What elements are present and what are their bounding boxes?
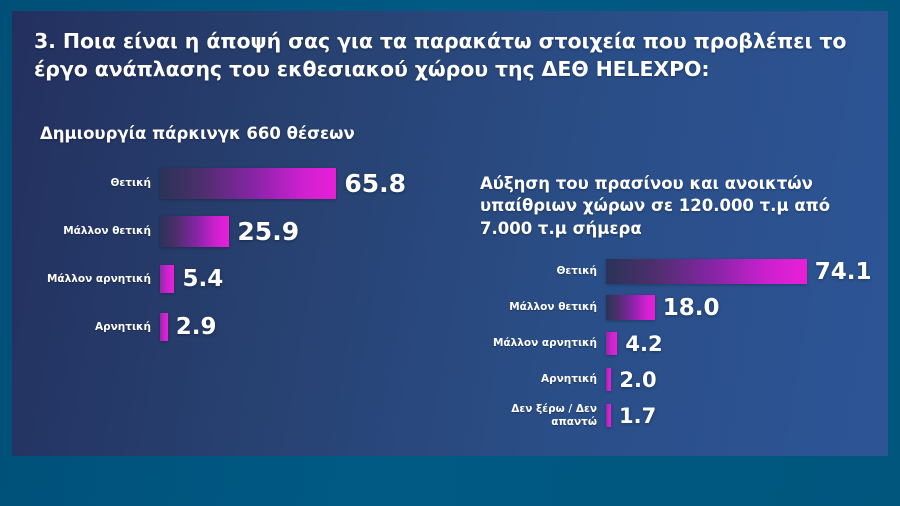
bar-track: 2.0	[606, 368, 900, 392]
bar-category-label: Θετική	[480, 265, 606, 278]
bar-row: Μάλλον θετική18.0	[480, 290, 900, 326]
bar-value-label: 5.4	[174, 266, 223, 292]
bar-track: 2.9	[160, 313, 464, 341]
bar-rows-greenspace: Θετική74.1Μάλλον θετική18.0Μάλλον αρνητι…	[480, 254, 900, 434]
bar-category-label: Μάλλον θετική	[480, 301, 606, 314]
bar-track: 65.8	[160, 168, 464, 199]
bar	[160, 313, 168, 341]
bar-value-label: 2.9	[168, 314, 217, 340]
bar-track: 5.4	[160, 265, 464, 293]
bar-row: Θετική74.1	[480, 254, 900, 290]
bar-category-label: Αρνητική	[480, 373, 606, 386]
bar-chart-parking: Δημιουργία πάρκινγκ 660 θέσεων Θετική65.…	[34, 123, 464, 351]
bar-category-label: Μάλλον αρνητική	[480, 337, 606, 350]
slide-footer: iefimerida GPO 5	[0, 456, 900, 506]
page-title: 3. Ποια είναι η άποψή σας για τα παρακάτ…	[34, 27, 864, 84]
chart-title-parking: Δημιουργία πάρκινγκ 660 θέσεων	[40, 123, 464, 145]
bar	[160, 168, 336, 199]
bar-rows-parking: Θετική65.8Μάλλον θετική25.9Μάλλον αρνητι…	[34, 159, 464, 351]
bar-track: 4.2	[606, 332, 900, 356]
bar-value-label: 74.1	[807, 259, 872, 285]
bar-track: 1.7	[606, 404, 900, 428]
bar-value-label: 65.8	[336, 169, 406, 198]
bar-value-label: 18.0	[655, 295, 720, 321]
bar	[160, 265, 174, 293]
bar-row: Μάλλον αρνητική5.4	[34, 255, 464, 303]
bar-chart-greenspace: Αύξηση του πρασίνου και ανοικτών υπαίθρι…	[480, 173, 900, 434]
bar-row: Αρνητική2.0	[480, 362, 900, 398]
bar	[606, 259, 807, 284]
bar-row: Μάλλον αρνητική4.2	[480, 326, 900, 362]
bar	[606, 295, 655, 320]
bar-category-label: Μάλλον αρνητική	[34, 273, 160, 286]
bar-track: 74.1	[606, 259, 900, 285]
bar-row: Δεν ξέρω / Δεν απαντώ1.7	[480, 398, 900, 434]
bar-row: Αρνητική2.9	[34, 303, 464, 351]
bar	[606, 332, 617, 355]
bar-track: 18.0	[606, 295, 900, 321]
chart-title-greenspace: Αύξηση του πρασίνου και ανοικτών υπαίθρι…	[480, 173, 850, 240]
bar-value-label: 1.7	[611, 404, 656, 428]
bar-row: Θετική65.8	[34, 159, 464, 207]
bar-track: 25.9	[160, 216, 464, 247]
bar	[160, 216, 229, 247]
bar-row: Μάλλον θετική25.9	[34, 207, 464, 255]
bar-value-label: 2.0	[611, 368, 656, 392]
bar-category-label: Μάλλον θετική	[34, 225, 160, 238]
bar-category-label: Θετική	[34, 177, 160, 190]
bar-value-label: 25.9	[229, 217, 299, 246]
slide-panel: 3. Ποια είναι η άποψή σας για τα παρακάτ…	[12, 11, 888, 456]
bar-category-label: Αρνητική	[34, 321, 160, 334]
bar-value-label: 4.2	[617, 332, 662, 356]
bar-category-label: Δεν ξέρω / Δεν απαντώ	[480, 403, 606, 429]
